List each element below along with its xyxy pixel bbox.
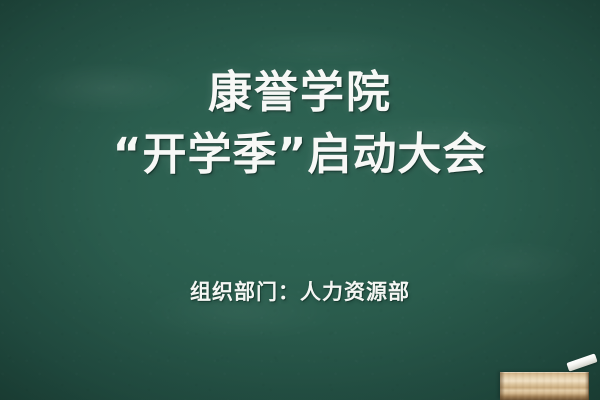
chalkboard-slide: 康誉学院 “开学季”启动大会 组织部门：人力资源部	[0, 0, 600, 400]
chalk-ledge	[500, 372, 589, 400]
chalk-ledge-left-bevel	[500, 372, 505, 400]
slide-subtitle-organizer: 组织部门：人力资源部	[190, 278, 410, 306]
slide-title-line-2: “开学季”启动大会	[113, 124, 488, 186]
chalk-ledge-right-bevel	[585, 372, 589, 400]
slide-content: 康誉学院 “开学季”启动大会 组织部门：人力资源部	[0, 0, 600, 400]
slide-title-line-1: 康誉学院	[208, 62, 392, 124]
chalk-ledge-grain	[500, 372, 589, 400]
